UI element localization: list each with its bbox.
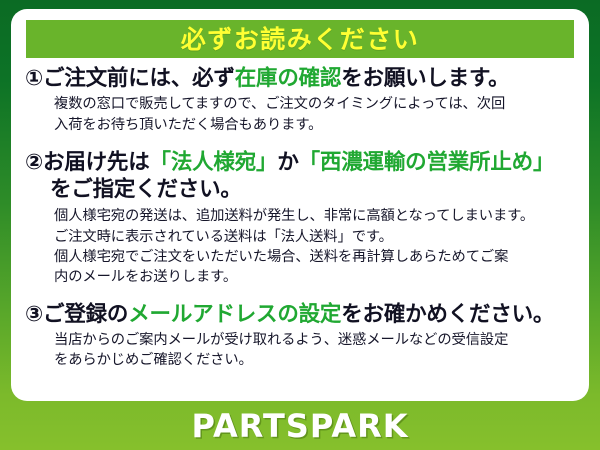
notice-item-1-heading-highlight: 在庫の確認	[235, 66, 342, 91]
page-title: 必ずお読みください	[181, 27, 420, 52]
notice-item-2-body-line-4: 内のメールをお送りします。	[54, 267, 575, 287]
notice-card: 必ずお読みください ①ご注文前には、必ず在庫の確認をお願いします。 複数の窓口で…	[11, 9, 589, 401]
notice-item-3-heading-highlight: メールアドレスの設定	[128, 302, 341, 327]
partspark-logo: PARTSPARK	[191, 410, 408, 442]
header-band: 必ずお読みください	[26, 20, 574, 58]
notice-item-3-number: ③	[25, 302, 43, 327]
notice-item-2-heading-pre: お届け先は	[43, 150, 150, 175]
notice-item-3-heading-pre: ご登録の	[43, 302, 128, 327]
footer-bar: PARTSPARK	[0, 402, 600, 450]
notice-banner: 必ずお読みください ①ご注文前には、必ず在庫の確認をお願いします。 複数の窓口で…	[0, 0, 600, 450]
notice-item-3: ③ご登録のメールアドレスの設定をお確かめください。 当店からのご案内メールが受け…	[25, 301, 575, 371]
notice-item-2-body-line-3: 個人様宅宛でご注文をいただいた場合、送料を再計算しあらためてご案	[54, 247, 575, 267]
notice-item-2-heading-highlight: 「法人様宛」	[150, 150, 278, 175]
notice-item-2-body-line-2: ご注文時に表示されている送料は「法人送料」です。	[54, 227, 575, 247]
notice-item-3-body: 当店からのご案内メールが受け取れるよう、迷惑メールなどの受信設定 をあらかじめご…	[25, 330, 575, 371]
notice-item-3-body-line-1: 当店からのご案内メールが受け取れるよう、迷惑メールなどの受信設定	[54, 330, 575, 350]
notice-item-2-heading: ②お届け先は「法人様宛」か「西濃運輸の営業所止め」	[25, 149, 575, 176]
notice-item-3-heading: ③ご登録のメールアドレスの設定をお確かめください。	[25, 301, 575, 328]
notice-item-1-heading: ①ご注文前には、必ず在庫の確認をお願いします。	[25, 65, 575, 92]
notice-item-3-body-line-2: をあらかじめご確認ください。	[54, 350, 575, 370]
notice-item-1-body-line-1: 複数の窓口で販売してますので、ご注文のタイミングによっては、次回	[54, 94, 575, 114]
notice-item-2-heading-mid: か	[277, 150, 298, 175]
notice-content: ①ご注文前には、必ず在庫の確認をお願いします。 複数の窓口で販売してますので、ご…	[11, 65, 589, 373]
notice-item-2-number: ②	[25, 150, 43, 175]
notice-item-1-number: ①	[25, 66, 43, 91]
notice-item-1-heading-post: をお願いします。	[341, 66, 509, 91]
notice-item-1-heading-pre: ご注文前には、必ず	[43, 66, 235, 91]
notice-item-2-body: 個人様宅宛の発送は、追加送料が発生し、非常に高額となってしまいます。 ご注文時に…	[25, 206, 575, 288]
notice-item-2-body-line-1: 個人様宅宛の発送は、追加送料が発生し、非常に高額となってしまいます。	[54, 206, 575, 226]
notice-item-1-body: 複数の窓口で販売してますので、ご注文のタイミングによっては、次回 入荷をお待ち頂…	[25, 94, 575, 135]
notice-item-1-body-line-2: 入荷をお待ち頂いただく場合もあります。	[54, 115, 575, 135]
notice-item-3-heading-post: をお確かめください。	[341, 302, 554, 327]
notice-item-1: ①ご注文前には、必ず在庫の確認をお願いします。 複数の窓口で販売してますので、ご…	[25, 65, 575, 135]
notice-item-2-heading-line-2: をご指定ください。	[25, 176, 575, 203]
notice-item-2-heading-highlight-2: 「西濃運輸の営業所止め」	[299, 150, 555, 175]
notice-item-2: ②お届け先は「法人様宛」か「西濃運輸の営業所止め」 をご指定ください。 個人様宅…	[25, 149, 575, 288]
